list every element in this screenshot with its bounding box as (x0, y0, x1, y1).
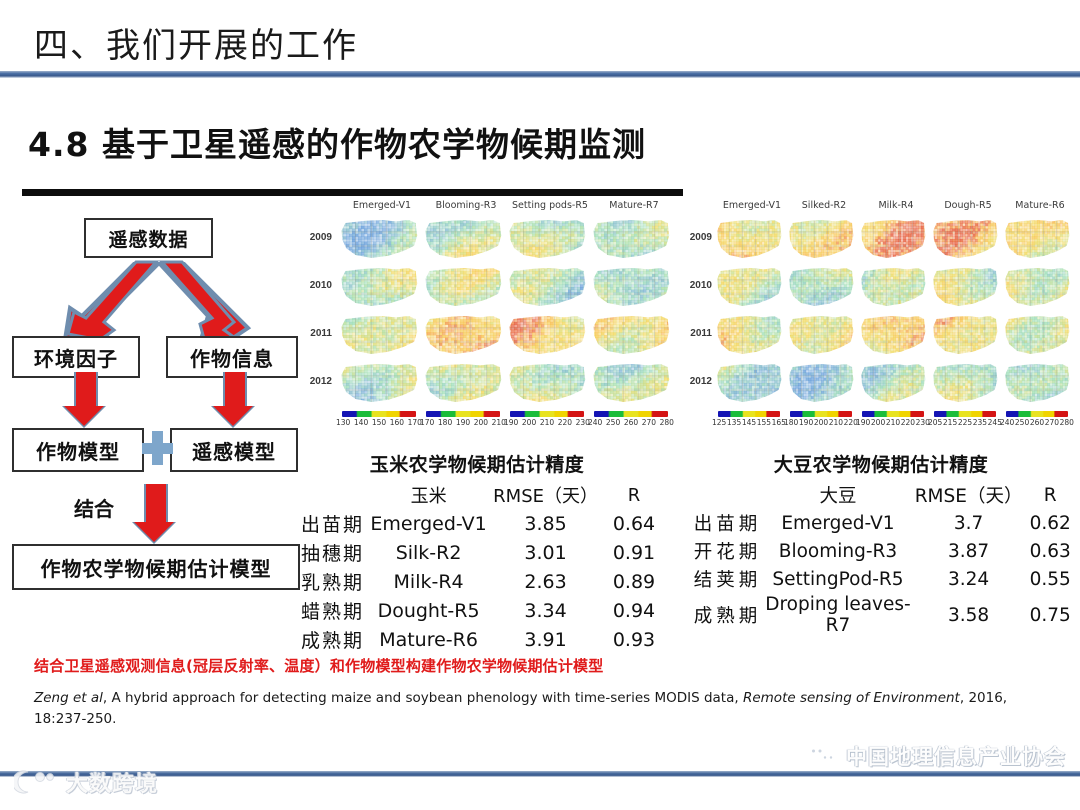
cell-stage: 蜡熟期 (286, 596, 366, 625)
table-row: 抽穗期Silk-R23.010.91 (286, 538, 668, 567)
map-colorbar (718, 411, 780, 417)
flow-node-crop-model: 作物模型 (12, 428, 144, 472)
map-cell (1004, 218, 1070, 260)
cell-rmse: 3.24 (913, 565, 1025, 593)
colorbar-tick: 270 (1045, 418, 1059, 427)
colorbar-tick: 220 (558, 418, 572, 427)
colorbar-ticks: 190200210220230 (856, 418, 930, 427)
map-column-header: Mature-R6 (998, 200, 1080, 216)
map-cell (932, 218, 998, 260)
map-colorbar (862, 411, 924, 417)
map-cell (788, 314, 854, 356)
header-divider (0, 71, 1080, 78)
map-cell (860, 266, 926, 308)
cell-stage-name: Emerged-V1 (366, 509, 491, 538)
cell-stage: 出苗期 (686, 509, 763, 537)
plus-icon (142, 431, 172, 465)
cell-stage: 成熟期 (686, 593, 763, 637)
colorbar-ticks: 190200210220230 (504, 418, 590, 427)
map-year-label: 2012 (296, 376, 332, 387)
colorbar-tick: 260 (1030, 418, 1044, 427)
table-maize-body: 玉米RMSE（天）R出苗期Emerged-V13.850.64抽穗期Silk-R… (286, 481, 668, 654)
cell-rmse: 3.87 (913, 537, 1025, 565)
colorbar-ticks: 170180190200210 (420, 418, 506, 427)
map-cell (716, 362, 782, 404)
map-colorbar (934, 411, 996, 417)
colorbar-tick: 210 (540, 418, 554, 427)
map-cell (340, 362, 418, 404)
map-cell (932, 314, 998, 356)
footer-divider (0, 771, 1080, 777)
citation: Zeng et al, A hybrid approach for detect… (34, 688, 1054, 730)
map-year-label: 2011 (676, 328, 712, 339)
header-blank (286, 481, 366, 509)
map-cell (860, 362, 926, 404)
cell-stage-name: SettingPod-R5 (763, 565, 913, 593)
colorbar-tick: 250 (1015, 418, 1029, 427)
wechat-icon (805, 743, 839, 769)
colorbar-tick: 190 (856, 418, 870, 427)
table-row: 开花期Blooming-R33.870.63 (686, 537, 1076, 565)
colorbar-tick: 155 (757, 418, 771, 427)
table-row: 出苗期Emerged-V13.850.64 (286, 509, 668, 538)
colorbar-tick: 200 (871, 418, 885, 427)
flow-node-rs-model: 遥感模型 (170, 428, 298, 472)
map-grid-maize: Emerged-V1Silked-R2Milk-R4Dough-R5Mature… (676, 200, 1074, 426)
map-cell (424, 362, 502, 404)
cell-r: 0.63 (1024, 537, 1076, 565)
citation-middle: , A hybrid approach for detecting maize … (103, 690, 743, 706)
watermark-right: 中国地理信息产业协会 (805, 741, 1066, 771)
flow-node-final-model: 作物农学物候期估计模型 (12, 544, 300, 590)
table-header-row: 玉米RMSE（天）R (286, 481, 668, 509)
map-cell (592, 266, 670, 308)
cell-stage-name: Droping leaves-R7 (763, 593, 913, 637)
dashu-logo-icon (14, 768, 60, 796)
map-colorbar (510, 411, 584, 417)
cell-stage-name: Blooming-R3 (763, 537, 913, 565)
map-cell (1004, 362, 1070, 404)
map-colorbar (342, 411, 416, 417)
map-column-header: Mature-R7 (586, 200, 682, 216)
table-title-maize: 玉米农学物候期估计精度 (286, 450, 668, 477)
citation-author: Zeng et al (34, 690, 103, 706)
map-year-label: 2012 (676, 376, 712, 387)
map-cell (788, 218, 854, 260)
cell-r: 0.55 (1024, 565, 1076, 593)
header-rmse: RMSE（天） (913, 481, 1025, 509)
colorbar-tick: 160 (390, 418, 404, 427)
table-header-row: 大豆RMSE（天）R (686, 481, 1076, 509)
colorbar-tick: 200 (814, 418, 828, 427)
arrow-down-crop (213, 372, 253, 428)
cell-rmse: 3.34 (491, 596, 600, 625)
map-cell (788, 362, 854, 404)
colorbar-ticks: 130140150160170 (336, 418, 422, 427)
cell-stage-name: Emerged-V1 (763, 509, 913, 537)
map-cell (340, 266, 418, 308)
colorbar-tick: 135 (727, 418, 741, 427)
cell-r: 0.94 (600, 596, 668, 625)
colorbar-tick: 125 (712, 418, 726, 427)
map-cell (716, 314, 782, 356)
colorbar-ticks: 240250260270280 (588, 418, 674, 427)
map-cell (932, 362, 998, 404)
colorbar-ticks: 125135145155165 (712, 418, 786, 427)
colorbar-ticks: 205215225235245 (928, 418, 1002, 427)
map-colorbar (790, 411, 852, 417)
colorbar-tick: 190 (456, 418, 470, 427)
cell-r: 0.64 (600, 509, 668, 538)
map-cell (592, 362, 670, 404)
map-cell (592, 314, 670, 356)
cell-stage: 结荚期 (686, 565, 763, 593)
cell-r: 0.75 (1024, 593, 1076, 637)
cell-stage-name: Milk-R4 (366, 567, 491, 596)
colorbar-tick: 200 (474, 418, 488, 427)
cell-stage: 成熟期 (286, 625, 366, 654)
header-blank (686, 481, 763, 509)
cell-stage: 出苗期 (286, 509, 366, 538)
colorbar-tick: 205 (928, 418, 942, 427)
map-cell (424, 314, 502, 356)
cell-rmse: 2.63 (491, 567, 600, 596)
table-row: 蜡熟期Dought-R53.340.94 (286, 596, 668, 625)
flow-combine-label: 结合 (74, 493, 114, 522)
table-row: 结荚期SettingPod-R53.240.55 (686, 565, 1076, 593)
cell-r: 0.93 (600, 625, 668, 654)
flow-node-source: 遥感数据 (84, 218, 213, 258)
colorbar-tick: 240 (1000, 418, 1014, 427)
watermark-left-text: 大数跨境 (66, 766, 158, 798)
colorbar-tick: 235 (973, 418, 987, 427)
header-r: R (600, 481, 668, 509)
section-underline (22, 189, 683, 196)
citation-journal: Remote sensing of Environment (743, 690, 960, 706)
methodology-flowchart: 遥感数据 环境因子 作物信息 作物模型 遥感模型 作物农学物候期估计模型 结合 (8, 212, 300, 622)
header-rmse: RMSE（天） (491, 481, 600, 509)
arrow-down-env (64, 372, 104, 428)
cell-stage: 抽穗期 (286, 538, 366, 567)
colorbar-tick: 280 (660, 418, 674, 427)
watermark-right-text: 中国地理信息产业协会 (846, 741, 1066, 771)
colorbar-tick: 130 (336, 418, 350, 427)
cell-rmse: 3.01 (491, 538, 600, 567)
map-cell (860, 218, 926, 260)
map-cell (508, 362, 586, 404)
cell-r: 0.91 (600, 538, 668, 567)
cell-rmse: 3.7 (913, 509, 1025, 537)
map-cell (1004, 314, 1070, 356)
colorbar-tick: 210 (886, 418, 900, 427)
table-row: 成熟期Droping leaves-R73.580.75 (686, 593, 1076, 637)
map-cell (340, 218, 418, 260)
table-soybean-body: 大豆RMSE（天）R出苗期Emerged-V13.70.62开花期Bloomin… (686, 481, 1076, 637)
red-caption: 结合卫星遥感观测信息(冠层反射率、温度）和作物模型构建作物农学物候期估计模型 (34, 655, 603, 676)
map-cell (860, 314, 926, 356)
map-year-label: 2010 (296, 280, 332, 291)
slide-root: 四、我们开展的工作 4.8 基于卫星遥感的作物农学物候期监测 遥感数据 环境因子… (0, 0, 1080, 810)
map-grid-soybean: Emerged-V1Blooming-R3Setting pods-R5Matu… (296, 200, 668, 426)
cell-stage: 开花期 (686, 537, 763, 565)
map-cell (788, 266, 854, 308)
cell-rmse: 3.85 (491, 509, 600, 538)
arrow-down-final (134, 484, 174, 546)
map-column-header: Blooming-R3 (418, 200, 514, 216)
colorbar-tick: 220 (901, 418, 915, 427)
map-colorbar (1006, 411, 1068, 417)
cell-stage-name: Mature-R6 (366, 625, 491, 654)
colorbar-ticks: 240250260270280 (1000, 418, 1074, 427)
cell-stage: 乳熟期 (286, 567, 366, 596)
map-year-label: 2009 (676, 232, 712, 243)
map-cell (424, 218, 502, 260)
map-cell (716, 266, 782, 308)
colorbar-tick: 180 (784, 418, 798, 427)
colorbar-tick: 280 (1060, 418, 1074, 427)
map-year-label: 2010 (676, 280, 712, 291)
page-title: 四、我们开展的工作 (34, 18, 358, 67)
header-crop: 玉米 (366, 481, 491, 509)
cell-rmse: 3.91 (491, 625, 600, 654)
map-cell (716, 218, 782, 260)
map-year-label: 2009 (296, 232, 332, 243)
section-title: 4.8 基于卫星遥感的作物农学物候期监测 (28, 118, 646, 166)
map-cell (592, 218, 670, 260)
table-row: 出苗期Emerged-V13.70.62 (686, 509, 1076, 537)
colorbar-tick: 270 (642, 418, 656, 427)
colorbar-tick: 145 (742, 418, 756, 427)
table-row: 乳熟期Milk-R42.630.89 (286, 567, 668, 596)
table-title-soybean: 大豆农学物候期估计精度 (686, 450, 1076, 477)
header-r: R (1024, 481, 1076, 509)
accuracy-table-soybean: 大豆农学物候期估计精度 大豆RMSE（天）R出苗期Emerged-V13.70.… (686, 450, 1076, 637)
cell-stage-name: Silk-R2 (366, 538, 491, 567)
colorbar-ticks: 180190200210220 (784, 418, 858, 427)
watermark-left: 大数跨境 (14, 766, 158, 798)
colorbar-tick: 200 (522, 418, 536, 427)
colorbar-tick: 215 (943, 418, 957, 427)
map-cell (340, 314, 418, 356)
map-cell (424, 266, 502, 308)
colorbar-tick: 140 (354, 418, 368, 427)
map-colorbar (594, 411, 668, 417)
colorbar-tick: 190 (504, 418, 518, 427)
cell-rmse: 3.58 (913, 593, 1025, 637)
map-colorbar (426, 411, 500, 417)
colorbar-tick: 260 (624, 418, 638, 427)
table-row: 成熟期Mature-R63.910.93 (286, 625, 668, 654)
colorbar-tick: 190 (799, 418, 813, 427)
colorbar-tick: 180 (438, 418, 452, 427)
cell-r: 0.89 (600, 567, 668, 596)
header-crop: 大豆 (763, 481, 913, 509)
cell-r: 0.62 (1024, 509, 1076, 537)
colorbar-tick: 240 (588, 418, 602, 427)
map-cell (932, 266, 998, 308)
colorbar-tick: 225 (958, 418, 972, 427)
colorbar-tick: 250 (606, 418, 620, 427)
map-column-header: Emerged-V1 (334, 200, 430, 216)
map-cell (508, 266, 586, 308)
map-cell (508, 314, 586, 356)
cell-stage-name: Dought-R5 (366, 596, 491, 625)
map-column-header: Setting pods-R5 (502, 200, 598, 216)
colorbar-tick: 210 (829, 418, 843, 427)
map-cell (1004, 266, 1070, 308)
accuracy-table-maize: 玉米农学物候期估计精度 玉米RMSE（天）R出苗期Emerged-V13.850… (286, 450, 668, 654)
map-year-label: 2011 (296, 328, 332, 339)
map-cell (508, 218, 586, 260)
colorbar-tick: 170 (420, 418, 434, 427)
colorbar-tick: 150 (372, 418, 386, 427)
